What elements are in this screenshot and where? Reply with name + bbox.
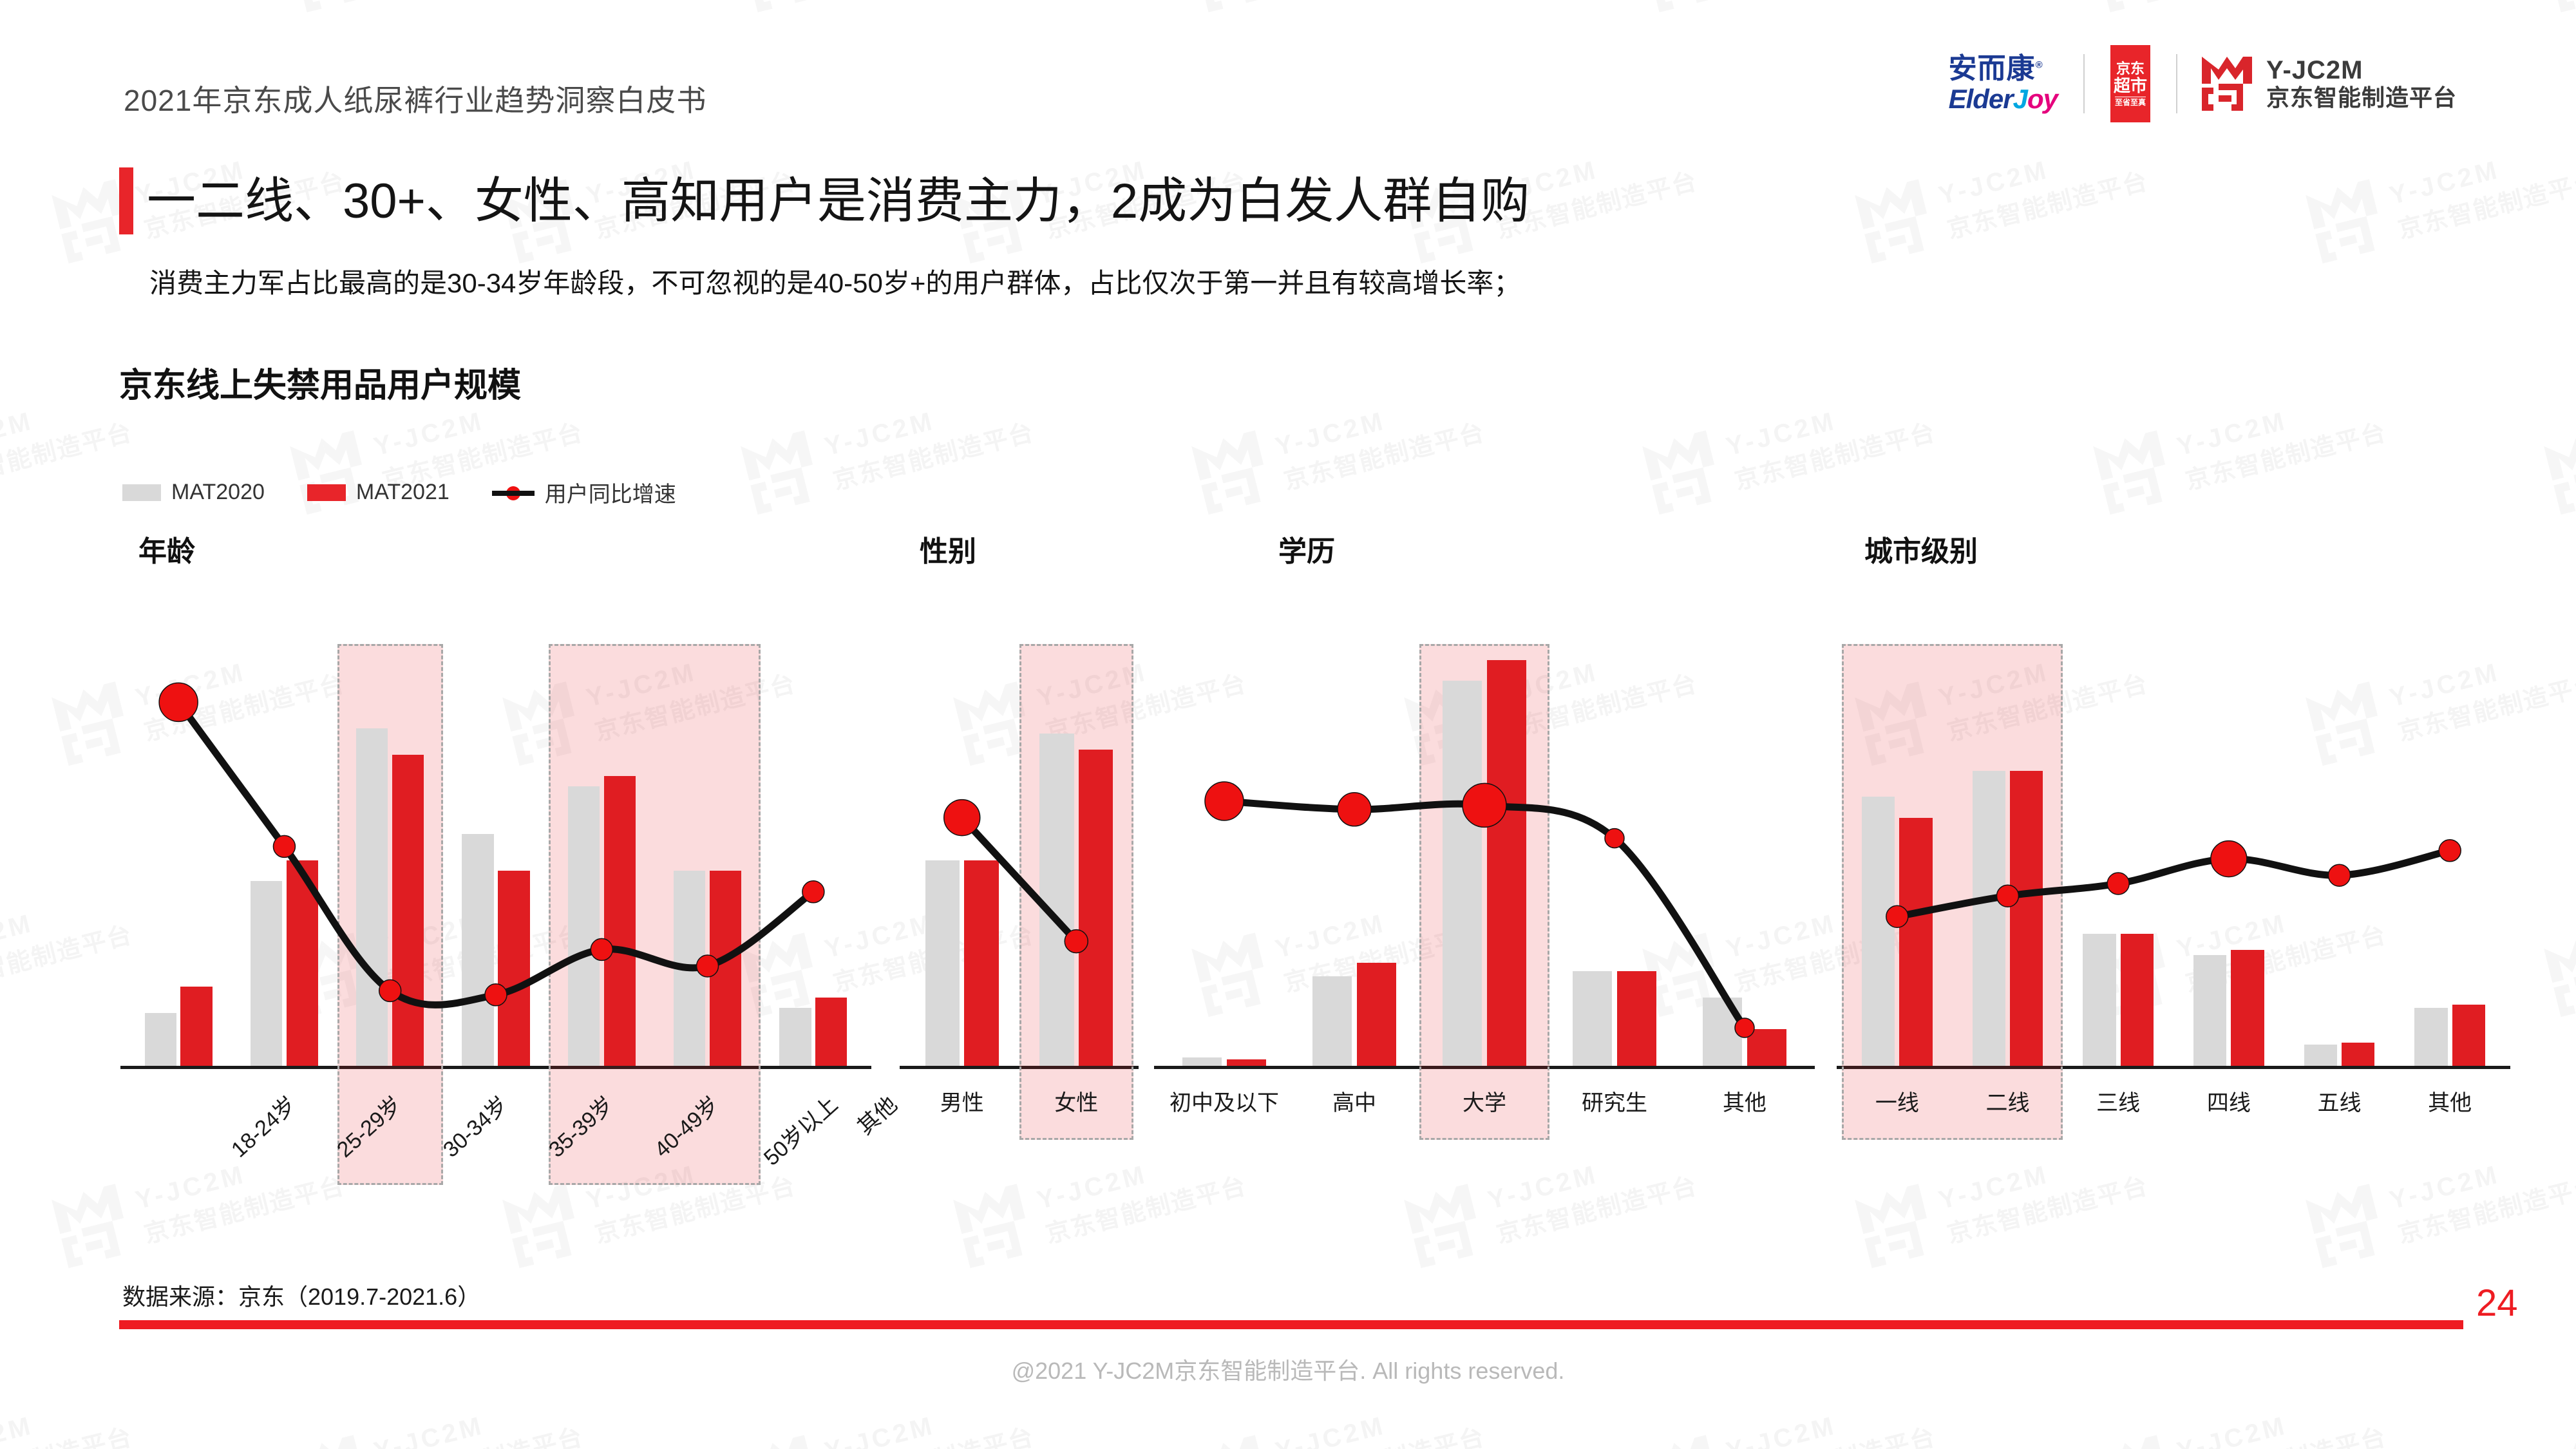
x-tick-label: 初中及以下	[1170, 1085, 1279, 1117]
trend-line-marker	[2211, 841, 2247, 877]
bar-city-mat2020	[2304, 1045, 2338, 1066]
slide-subtitle: 消费主力军占比最高的是30-34岁年龄段，不可忽视的是40-50岁+的用户群体，…	[149, 261, 1520, 301]
footer-rule	[119, 1320, 2463, 1329]
x-tick-label: 一线	[1875, 1085, 1919, 1117]
yjc2m-logo-text: Y-JC2M 京东智能制造平台	[2266, 56, 2457, 111]
legend-swatch-icon	[307, 484, 346, 501]
slide-page: Y-JC2M京东智能制造平台Y-JC2M京东智能制造平台Y-JC2M京东智能制造…	[0, 0, 2576, 1449]
yjc2m-mark-icon	[2199, 54, 2255, 113]
bar-age-mat2021	[815, 998, 847, 1066]
x-tick-label: 30-34岁	[435, 1088, 514, 1163]
bar-age-mat2020	[462, 834, 493, 1066]
elderjoy-logo: 安而康® ElderJoy	[1949, 55, 2083, 113]
logo-divider-1	[2083, 54, 2085, 113]
elderjoy-en-j: J	[2013, 84, 2027, 114]
jd-super-line2: 超市	[2114, 77, 2147, 95]
bar-city-mat2020	[2083, 934, 2116, 1066]
elderjoy-logo-cn: 安而康®	[1949, 55, 2043, 83]
chart-legend: MAT2020MAT2021用户同比增速	[122, 477, 676, 508]
elderjoy-cn-text: 安而康	[1949, 53, 2036, 84]
bar-city-mat2021	[1899, 818, 1933, 1066]
bar-education-mat2021	[1747, 1029, 1786, 1066]
x-tick-label: 其他	[2428, 1085, 2472, 1117]
page-title: 一二线、30+、女性、高知用户是消费主力，2成为白发人群自购	[147, 161, 1529, 232]
bar-education-mat2021	[1617, 971, 1656, 1066]
yjc2m-mark-svg	[2199, 54, 2255, 113]
yjc2m-logo-cn: 京东智能制造平台	[2266, 85, 2457, 111]
jd-super-logo: 京东 超市 至省至真	[2110, 45, 2150, 122]
yjc2m-logo-en: Y-JC2M	[2266, 56, 2457, 85]
x-tick-label: 其他	[849, 1088, 902, 1141]
x-tick-label: 四线	[2207, 1085, 2251, 1117]
x-tick-label: 五线	[2318, 1085, 2362, 1117]
bar-city-mat2021	[2010, 771, 2043, 1066]
bar-city-mat2020	[1862, 797, 1895, 1066]
chart-title-education: 学历	[1278, 528, 1335, 569]
bar-education-mat2021	[1487, 660, 1526, 1066]
bar-education-mat2020	[1703, 998, 1742, 1066]
bar-age-mat2021	[604, 776, 636, 1066]
x-tick-label: 大学	[1463, 1085, 1506, 1117]
highlight-band	[1419, 644, 1549, 1140]
copyright-notice: @2021 Y-JC2M京东智能制造平台. All rights reserve…	[0, 1352, 2576, 1386]
bar-city-mat2021	[2342, 1043, 2375, 1066]
bar-city-mat2021	[2452, 1005, 2486, 1066]
title-accent-bar	[119, 167, 133, 234]
bar-age-mat2021	[287, 860, 318, 1066]
bar-education-mat2021	[1227, 1059, 1266, 1066]
elderjoy-en-o: o	[2027, 84, 2043, 114]
bar-city-mat2020	[1973, 771, 2006, 1066]
bar-age-mat2021	[180, 987, 212, 1066]
chart-title-city: 城市级别	[1864, 528, 1978, 569]
page-number: 24	[2476, 1282, 2518, 1325]
trend-line-marker	[2329, 864, 2351, 886]
bar-education-mat2020	[1312, 976, 1352, 1066]
elderjoy-en-y: y	[2043, 84, 2058, 114]
x-tick-label: 高中	[1332, 1085, 1376, 1117]
bar-city-mat2021	[2231, 950, 2264, 1066]
trend-line-marker	[1205, 782, 1244, 820]
highlight-band	[1019, 644, 1134, 1140]
data-source-note: 数据来源：京东（2019.7-2021.6）	[122, 1278, 480, 1312]
bar-age-mat2021	[710, 871, 741, 1066]
yjc2m-logo: Y-JC2M 京东智能制造平台	[2177, 54, 2457, 113]
trend-line-marker	[159, 683, 198, 721]
bar-city-mat2021	[2121, 934, 2154, 1066]
trend-line-marker	[1605, 829, 1624, 848]
bar-city-mat2020	[2414, 1008, 2448, 1066]
slide-header: 2021年京东成人纸尿裤行业趋势洞察白皮书 安而康® ElderJoy 京东 超…	[0, 0, 2576, 148]
legend-line-icon	[492, 484, 535, 501]
trend-line-marker	[2439, 840, 2461, 862]
bar-age-mat2020	[674, 871, 705, 1066]
legend-swatch-icon	[122, 484, 161, 501]
legend-label: 用户同比增速	[545, 477, 676, 508]
trend-line-marker	[273, 835, 295, 857]
x-tick-label: 女性	[1054, 1085, 1098, 1117]
trend-line-marker	[944, 800, 980, 836]
bar-age-mat2021	[392, 755, 424, 1066]
x-tick-label: 18-24岁	[223, 1088, 302, 1163]
chart-title-gender: 性别	[920, 528, 976, 569]
bar-education-mat2020	[1573, 971, 1612, 1066]
bar-education-mat2020	[1182, 1057, 1222, 1066]
jd-super-line1: 京东	[2116, 61, 2145, 76]
bar-age-mat2020	[251, 881, 282, 1066]
trend-line-marker	[1338, 793, 1371, 826]
bar-age-mat2020	[356, 728, 388, 1066]
bar-city-mat2020	[2193, 955, 2227, 1066]
registered-mark-icon: ®	[2036, 59, 2043, 70]
legend-item-用户同比增速[interactable]: 用户同比增速	[492, 477, 676, 508]
legend-label: MAT2021	[356, 480, 450, 505]
bar-gender-mat2021	[1079, 750, 1113, 1066]
legend-item-mat2020[interactable]: MAT2020	[122, 480, 265, 505]
logo-row: 安而康® ElderJoy 京东 超市 至省至真	[1949, 45, 2457, 122]
x-tick-label: 研究生	[1582, 1085, 1647, 1117]
chart-section-heading: 京东线上失禁用品用户规模	[119, 358, 521, 406]
legend-label: MAT2020	[171, 480, 265, 505]
elderjoy-en-pre: Elder	[1949, 84, 2013, 114]
document-title: 2021年京东成人纸尿裤行业趋势洞察白皮书	[124, 77, 706, 120]
x-tick-label: 其他	[1723, 1085, 1766, 1117]
bar-gender-mat2021	[964, 860, 998, 1066]
bar-age-mat2021	[498, 871, 529, 1066]
x-tick-label: 二线	[1986, 1085, 2030, 1117]
bar-age-mat2020	[779, 1008, 811, 1066]
bar-age-mat2020	[568, 786, 600, 1066]
bar-education-mat2020	[1443, 681, 1482, 1066]
chart-title-age: 年龄	[138, 528, 195, 569]
x-tick-label: 三线	[2096, 1085, 2140, 1117]
bar-gender-mat2020	[925, 860, 960, 1066]
elderjoy-logo-en: ElderJoy	[1949, 86, 2058, 113]
jd-super-line3: 至省至真	[2115, 97, 2146, 107]
trend-line-marker	[802, 881, 824, 903]
bar-education-mat2021	[1357, 963, 1396, 1066]
trend-line-marker	[2107, 873, 2129, 895]
x-tick-label: 男性	[940, 1085, 984, 1117]
x-tick-label: 50岁以上	[755, 1088, 843, 1171]
legend-item-mat2021[interactable]: MAT2021	[307, 480, 450, 505]
bar-age-mat2020	[145, 1013, 176, 1066]
bar-gender-mat2020	[1039, 734, 1074, 1066]
